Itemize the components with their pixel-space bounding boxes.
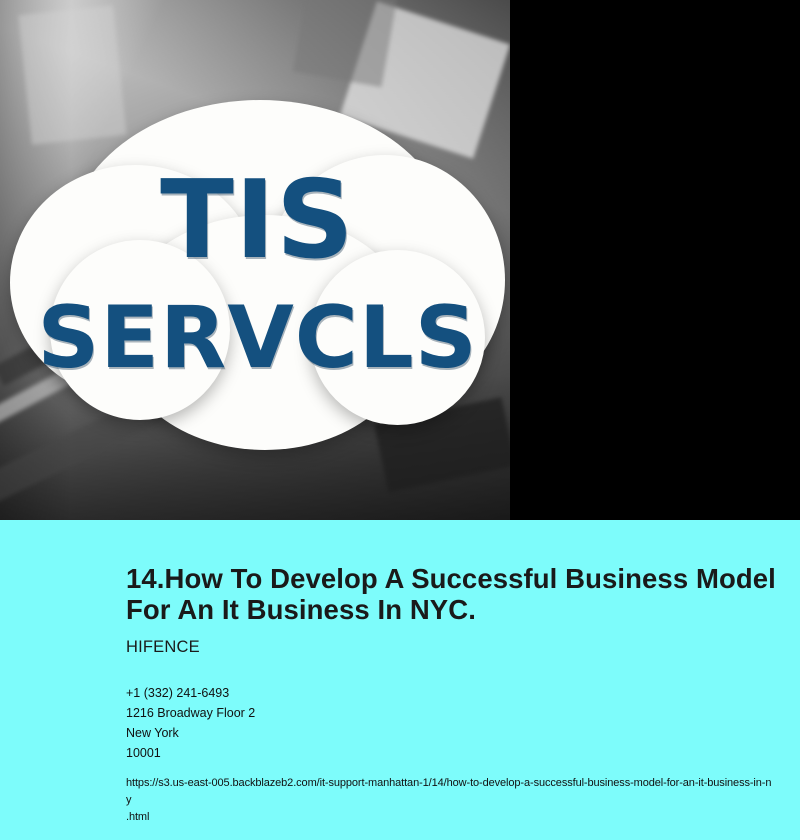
hero-photo: TIS SERVCLS [0,0,510,520]
source-url-part-1: https://s3.us-east-005.backblazeb2.com/i… [126,777,771,806]
contact-phone: +1 (332) 241-6493 [126,683,776,703]
cloud-speech-bubble: TIS SERVCLS [10,70,505,465]
info-band: 14.How To Develop A Successful Business … [0,520,800,840]
logo-line-2: SERVCLS [37,295,477,381]
page-title: 14.How To Develop A Successful Business … [126,564,776,626]
contact-address: 1216 Broadway Floor 2 [126,703,776,723]
contact-block: +1 (332) 241-6493 1216 Broadway Floor 2 … [126,683,776,763]
document-page: TIS SERVCLS 14.How To Develop A Successf… [0,0,800,840]
hero-media-band: TIS SERVCLS [0,0,800,520]
logo-line-1: TIS [160,167,355,275]
brand-name: HIFENCE [126,638,776,657]
contact-zip: 10001 [126,743,776,763]
source-url-part-2: .html [126,811,149,823]
source-url: https://s3.us-east-005.backblazeb2.com/i… [126,775,776,826]
cloud-logo-text: TIS SERVCLS [10,70,505,465]
info-content: 14.How To Develop A Successful Business … [126,564,776,826]
contact-city: New York [126,723,776,743]
